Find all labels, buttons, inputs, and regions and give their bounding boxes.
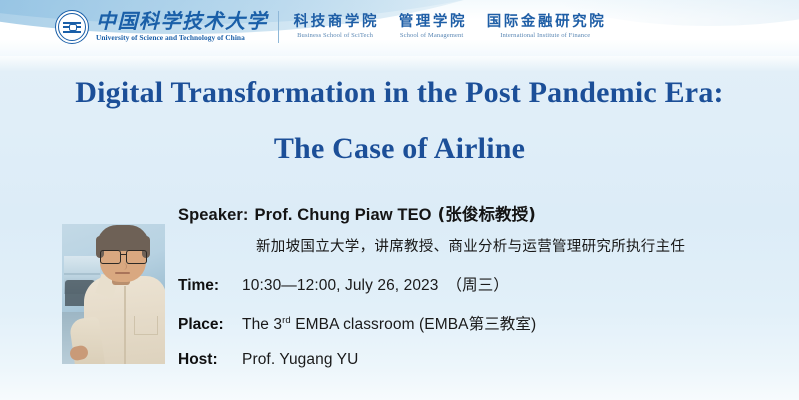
school-name-cn: 国际金融研究院 <box>484 13 606 31</box>
school-name-en: International Institute of Finance <box>484 31 606 41</box>
time-label: Time: <box>178 274 236 297</box>
school-list: 科技商学院 Business School of SciTech 管理学院 Sc… <box>291 13 606 41</box>
speaker-label: Speaker: <box>178 204 249 226</box>
school-item-international-finance: 国际金融研究院 International Institute of Finan… <box>484 13 606 41</box>
logo-divider <box>278 11 279 43</box>
speaker-photo <box>62 224 165 364</box>
school-name-cn: 管理学院 <box>396 13 467 31</box>
host-label: Host: <box>178 348 236 371</box>
poster-title-line-2: The Case of Airline <box>0 132 799 166</box>
university-name-cn: 中国科学技术大学 <box>96 12 268 33</box>
place-ordinal-suffix: rd <box>282 315 291 326</box>
detail-row-time: Time: 10:30—12:00, July 26, 2023（周三） <box>178 274 788 297</box>
place-label: Place: <box>178 313 236 336</box>
school-name-en: School of Management <box>396 31 467 41</box>
school-name-en: Business School of SciTech <box>291 31 379 41</box>
university-name-block: 中国科学技术大学 University of Science and Techn… <box>96 12 268 43</box>
speaker-line: Speaker: Prof. Chung Piaw TEO (张俊标教授) <box>178 204 788 226</box>
place-value-end: ) <box>531 316 536 333</box>
poster-title-line-1: Digital Transformation in the Post Pande… <box>0 76 799 110</box>
speaker-name: Prof. Chung Piaw TEO <box>255 204 432 226</box>
logo-lockup: 中国科学技术大学 University of Science and Techn… <box>55 6 606 48</box>
host-value: Prof. Yugang YU <box>242 348 358 371</box>
place-value-pre: The 3 <box>242 316 282 333</box>
ustc-emblem-icon <box>55 10 89 44</box>
speaker-affiliation: 新加坡国立大学，讲席教授、商业分析与运营管理研究所执行主任 <box>256 236 788 258</box>
school-name-cn: 科技商学院 <box>291 13 379 31</box>
eyeglasses-icon <box>100 250 147 262</box>
speaker-name-cn: (张俊标教授) <box>438 204 536 226</box>
place-value-post: EMBA classroom (EMBA <box>291 316 469 333</box>
school-item-management: 管理学院 School of Management <box>396 13 467 41</box>
header-fade <box>0 56 799 72</box>
detail-row-place: Place: The 3rd EMBA classroom (EMBA第三教室) <box>178 309 788 336</box>
place-value-cn: 第三教室 <box>469 315 531 333</box>
school-item-business-scitech: 科技商学院 Business School of SciTech <box>291 13 379 41</box>
detail-row-host: Host: Prof. Yugang YU <box>178 348 788 371</box>
time-value-text: 10:30—12:00, July 26, 2023 <box>242 277 439 294</box>
event-info-block: Speaker: Prof. Chung Piaw TEO (张俊标教授) 新加… <box>178 204 788 371</box>
time-value-cn: （周三） <box>447 276 509 294</box>
place-value: The 3rd EMBA classroom (EMBA第三教室) <box>242 309 536 336</box>
time-value: 10:30—12:00, July 26, 2023（周三） <box>242 274 509 297</box>
university-name-en: University of Science and Technology of … <box>96 33 268 43</box>
seminar-poster: 中国科学技术大学 University of Science and Techn… <box>0 0 799 400</box>
